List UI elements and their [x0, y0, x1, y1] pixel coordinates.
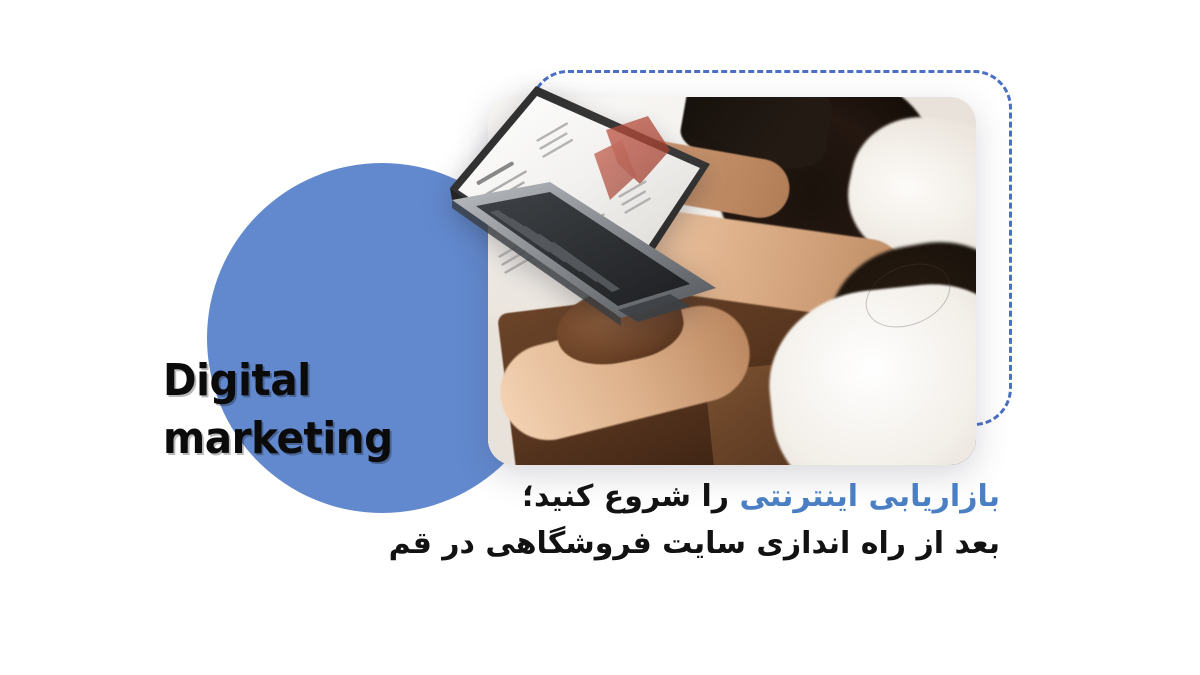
headline-line-1: Digital — [163, 352, 439, 410]
subtitle-accent-text: بازاریابی اینترنتی — [739, 479, 1000, 514]
page-title: Digital marketing — [163, 352, 439, 468]
subtitle-line-1: بازاریابی اینترنتی را شروع کنید؛ — [389, 474, 1000, 521]
subtitle: بازاریابی اینترنتی را شروع کنید؛ بعد از … — [389, 474, 1000, 567]
marketing-banner: Digital marketing بازاریابی اینترنتی را … — [0, 0, 1200, 675]
subtitle-line-1-rest: را شروع کنید؛ — [522, 479, 739, 514]
subtitle-line-2: بعد از راه اندازی سایت فروشگاهی در قم — [389, 521, 1000, 568]
headline-line-2: marketing — [163, 410, 439, 468]
